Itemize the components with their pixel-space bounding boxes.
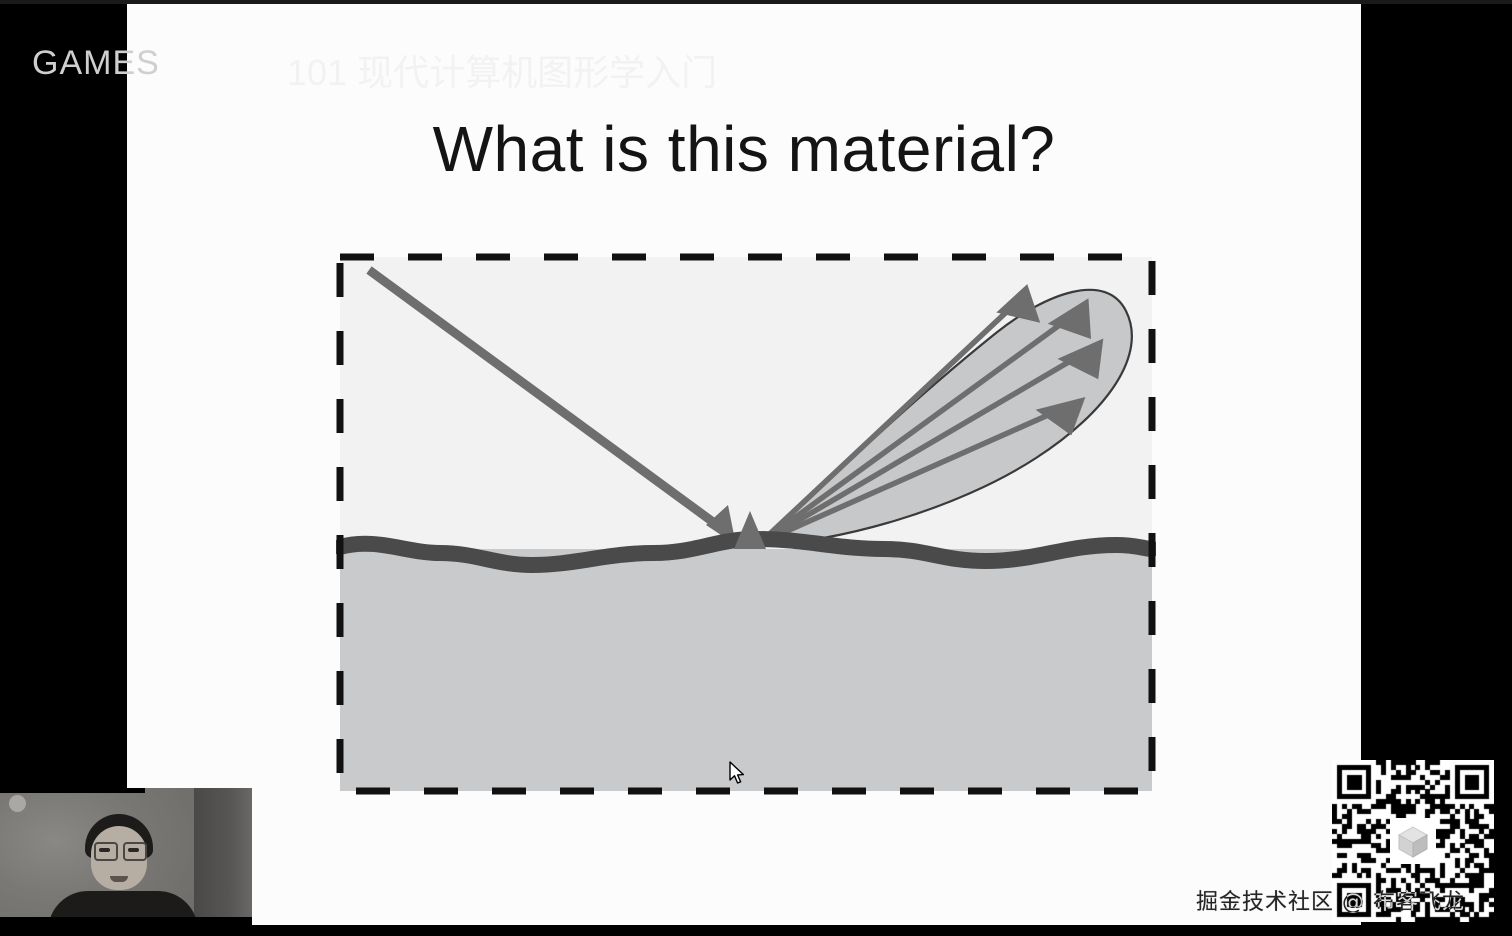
webcam-light-icon [9, 795, 26, 812]
presentation-slide: 101 现代计算机图形学入门 What is this material? [127, 4, 1361, 925]
webcam-wall [194, 788, 252, 927]
material-region [340, 549, 1152, 791]
webcam-top-bar [0, 788, 145, 793]
cube-logo-icon [1390, 818, 1436, 864]
presenter-eye-left [99, 848, 110, 852]
presenter-video-thumbnail[interactable] [0, 788, 252, 927]
brand-subtitle-ghost: 101 现代计算机图形学入门 [287, 44, 717, 96]
page-title: What is this material? [127, 112, 1361, 186]
webcam-bottom-bar [0, 917, 252, 927]
watermark-text: 掘金技术社区 @ 布客飞龙 [1196, 884, 1465, 916]
presenter-eye-right [128, 848, 139, 852]
material-reflection-figure [336, 253, 1156, 795]
brand-label: GAMES [32, 44, 160, 83]
screen-capture: 101 现代计算机图形学入门 What is this material? [0, 0, 1512, 936]
